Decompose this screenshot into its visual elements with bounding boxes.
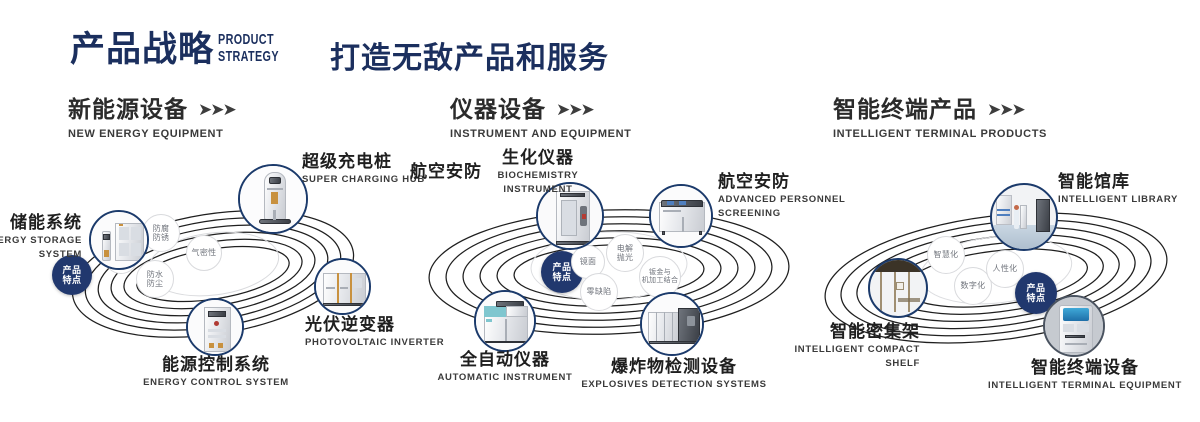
- node-label-cn: 智能馆库: [1058, 172, 1178, 192]
- node-automatic-instrument[interactable]: [474, 290, 536, 352]
- section-title-text: 智能终端产品: [833, 96, 977, 122]
- section-heading-intelligent-terminal: 智能终端产品➤➤➤ INTELLIGENT TERMINAL PRODUCTS: [833, 96, 1047, 140]
- feature-bubble-line2: 机加工结合: [642, 277, 679, 285]
- node-photovoltaic-inverter[interactable]: [314, 258, 371, 315]
- feature-bubble-line2: 防锈: [153, 233, 170, 242]
- section-heading-cn: 仪器设备➤➤➤: [450, 96, 631, 123]
- node-intelligent-terminal-equipment[interactable]: [1043, 295, 1105, 357]
- cluster-new-energy: 产品 特点 户外 防腐 防锈 防水 防尘 气密性: [0, 150, 420, 400]
- node-label-cn: 能源控制系统: [88, 355, 344, 375]
- cluster-instrument: 产品 特点 镜面 电解 抛光 零缺陷 钣金与 机加工结合 生化仪器 BIO: [400, 150, 820, 400]
- node-label-en-line1: EXPLOSIVES DETECTION SYSTEMS: [550, 379, 798, 391]
- feature-bubble-intelligent: 智慧化: [927, 236, 965, 274]
- node-label-cn: 航空安防: [410, 162, 482, 182]
- label-intelligent-library: 智能馆库 INTELLIGENT LIBRARY: [1058, 172, 1178, 206]
- page-title: 产品战略: [70, 28, 214, 72]
- feature-bubble-line1: 智慧化: [934, 250, 959, 259]
- node-label-cn: 智能终端设备: [970, 358, 1200, 378]
- node-label-cn: 储能系统: [0, 213, 82, 233]
- node-energy-control-system[interactable]: [186, 298, 244, 356]
- chevron-right-triple-icon: ➤➤➤: [987, 97, 1024, 123]
- label-aviation-security-left: 航空安防: [410, 162, 482, 182]
- feature-bubble-line1: 防腐: [153, 224, 170, 233]
- feature-bubble-line2: 防尘: [147, 279, 164, 288]
- feature-bubble-line1: 人性化: [993, 264, 1018, 273]
- label-intelligent-terminal-equipment: 智能终端设备 INTELLIGENT TERMINAL EQUIPMENT: [970, 358, 1200, 392]
- feature-bubble-airtightness: 气密性: [186, 235, 222, 271]
- node-label-en-line1: INTELLIGENT TERMINAL EQUIPMENT: [970, 380, 1200, 392]
- section-heading-en: NEW ENERGY EQUIPMENT: [68, 128, 235, 140]
- section-heading-cn: 新能源设备➤➤➤: [68, 96, 235, 123]
- section-heading-en: INTELLIGENT TERMINAL PRODUCTS: [833, 128, 1047, 140]
- node-energy-storage-system[interactable]: [89, 210, 149, 270]
- core-bubble-line2: 特点: [62, 275, 81, 285]
- core-bubble-product-features: 产品 特点: [52, 255, 92, 295]
- feature-bubble-line1: 数字化: [961, 281, 986, 290]
- feature-bubble-line1: 防水: [147, 270, 164, 279]
- section-heading-cn: 智能终端产品➤➤➤: [833, 96, 1047, 123]
- node-super-charging-hub[interactable]: [238, 164, 308, 234]
- chevron-right-triple-icon: ➤➤➤: [556, 97, 593, 123]
- feature-bubble-line2: 抛光: [617, 253, 634, 262]
- node-explosives-detection-systems[interactable]: [640, 292, 704, 356]
- section-title-text: 新能源设备: [68, 96, 188, 122]
- node-label-en-line1: ENERGY CONTROL SYSTEM: [88, 377, 344, 389]
- feature-bubble-electropolishing: 电解 抛光: [606, 234, 644, 272]
- node-label-en-line1: ENERGY STORAGE: [0, 235, 82, 247]
- page-header: 产品战略 PRODUCT STRATEGY 打造无敌产品和服务: [0, 0, 1200, 86]
- label-energy-storage-system: 储能系统 ENERGY STORAGE SYSTEM: [0, 213, 82, 261]
- feature-bubble-zero-defect: 零缺陷: [580, 273, 618, 311]
- core-bubble-line2: 特点: [1026, 293, 1045, 303]
- core-bubble-line1: 产品: [552, 262, 571, 272]
- feature-bubble-line1: 电解: [617, 244, 634, 253]
- page-title-english-line1: PRODUCT: [218, 31, 279, 48]
- page-title-english: PRODUCT STRATEGY: [218, 31, 279, 65]
- node-label-cn: 智能密集架: [760, 322, 920, 342]
- cluster-intelligent-terminal: 智慧化 数字化 人性化 产品 特点 智能馆库 INTELLIGENT LIBRA…: [800, 150, 1200, 400]
- section-heading-new-energy: 新能源设备➤➤➤ NEW ENERGY EQUIPMENT: [68, 96, 235, 140]
- core-bubble-line1: 产品: [1026, 283, 1045, 293]
- chevron-right-triple-icon: ➤➤➤: [198, 97, 235, 123]
- feature-bubble-line1: 镜面: [580, 257, 597, 266]
- feature-bubble-line1: 零缺陷: [587, 287, 612, 296]
- section-heading-instrument: 仪器设备➤➤➤ INSTRUMENT AND EQUIPMENT: [450, 96, 631, 140]
- label-intelligent-compact-shelf: 智能密集架 INTELLIGENT COMPACT SHELF: [760, 322, 920, 370]
- node-label-en-line1: INTELLIGENT COMPACT: [760, 344, 920, 356]
- core-bubble-line2: 特点: [552, 272, 571, 282]
- section-title-text: 仪器设备: [450, 96, 546, 122]
- node-intelligent-compact-shelf[interactable]: [868, 258, 928, 318]
- feature-bubble-line1: 气密性: [192, 248, 217, 257]
- node-intelligent-library[interactable]: [990, 183, 1058, 251]
- node-label-en-line2: SHELF: [760, 358, 920, 370]
- page-title-english-line2: STRATEGY: [218, 48, 279, 65]
- core-bubble-line1: 产品: [62, 265, 81, 275]
- feature-bubble-line1: 钣金与: [642, 269, 679, 277]
- section-heading-en: INSTRUMENT AND EQUIPMENT: [450, 128, 631, 140]
- node-label-en-line1: INTELLIGENT LIBRARY: [1058, 194, 1178, 206]
- node-advanced-personnel-screening[interactable]: [649, 184, 713, 248]
- page-headline: 打造无敌产品和服务: [330, 33, 609, 77]
- node-label-en-line2: INSTRUMENT: [418, 184, 658, 196]
- label-energy-control-system: 能源控制系统 ENERGY CONTROL SYSTEM: [88, 355, 344, 389]
- node-label-en-line2: SYSTEM: [0, 249, 82, 261]
